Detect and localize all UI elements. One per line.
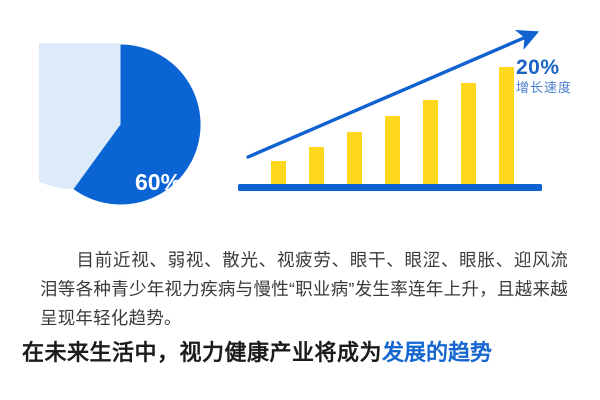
headline-lead: 在未来生活中，视力健康产业将成为	[22, 340, 382, 365]
bar-1	[271, 161, 286, 185]
growth-percent: 20%	[516, 57, 600, 79]
bar-4	[385, 116, 400, 185]
bar-3	[347, 132, 362, 185]
bar-6	[461, 83, 476, 185]
infographic-canvas: 60%	[0, 0, 600, 400]
charts-row: 60%	[0, 0, 600, 215]
headline-accent: 发展的趋势	[382, 340, 492, 365]
bar-chart-svg	[230, 20, 560, 205]
paragraph-text: 目前近视、弱视、散光、视疲劳、眼干、眼涩、眼胀、迎风流泪等各种青少年视力疾病与慢…	[40, 250, 568, 328]
pie-center-label: 60%	[135, 171, 181, 194]
growth-subtitle: 增长速度	[516, 81, 600, 95]
growth-callout: 20% 增长速度	[516, 57, 600, 95]
bar-7	[499, 67, 514, 185]
chart-baseline	[238, 184, 542, 191]
body-paragraph: 目前近视、弱视、散光、视疲劳、眼干、眼涩、眼胀、迎风流泪等各种青少年视力疾病与慢…	[40, 246, 568, 333]
bar-5	[423, 100, 438, 185]
bar-2	[309, 147, 324, 185]
bar-chart: 20% 增长速度	[230, 20, 560, 205]
pie-chart: 60%	[39, 43, 202, 206]
headline: 在未来生活中，视力健康产业将成为发展的趋势	[22, 340, 582, 366]
